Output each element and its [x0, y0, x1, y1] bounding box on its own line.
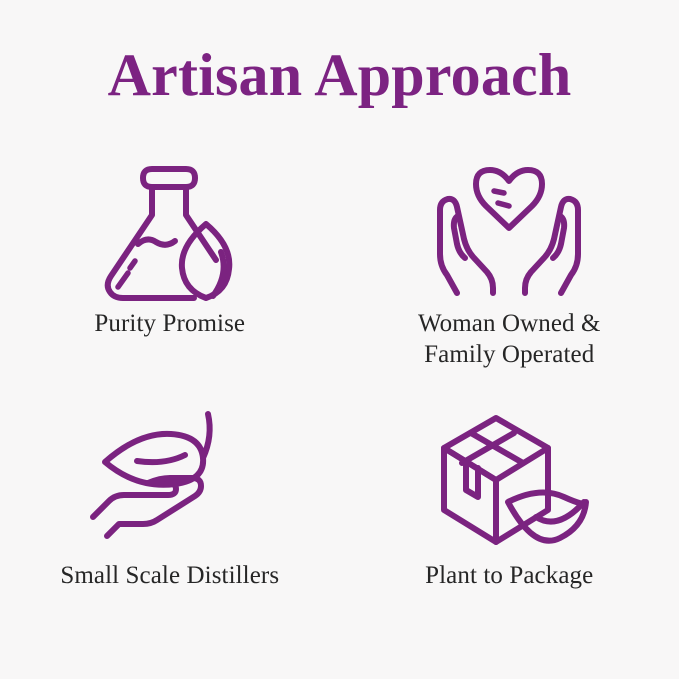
feature-label: Purity Promise — [94, 308, 245, 339]
box-leaf-icon — [424, 410, 594, 550]
feature-label: Plant to Package — [425, 560, 593, 591]
flask-leaf-icon — [85, 160, 255, 300]
feature-item-plant-to-package: Plant to Package — [340, 400, 679, 650]
feature-grid: Purity Promise — [0, 150, 679, 650]
feature-item-small-scale-distillers: Small Scale Distillers — [0, 400, 340, 650]
feature-item-purity-promise: Purity Promise — [0, 150, 340, 400]
artisan-approach-infographic: Artisan Approach — [0, 0, 679, 679]
hands-heart-icon — [424, 160, 594, 300]
feature-label: Small Scale Distillers — [60, 560, 279, 591]
feature-label: Woman Owned & Family Operated — [418, 308, 601, 371]
leaf-in-hand-icon — [85, 410, 255, 550]
page-title: Artisan Approach — [0, 44, 679, 107]
feature-item-woman-owned: Woman Owned & Family Operated — [340, 150, 679, 400]
